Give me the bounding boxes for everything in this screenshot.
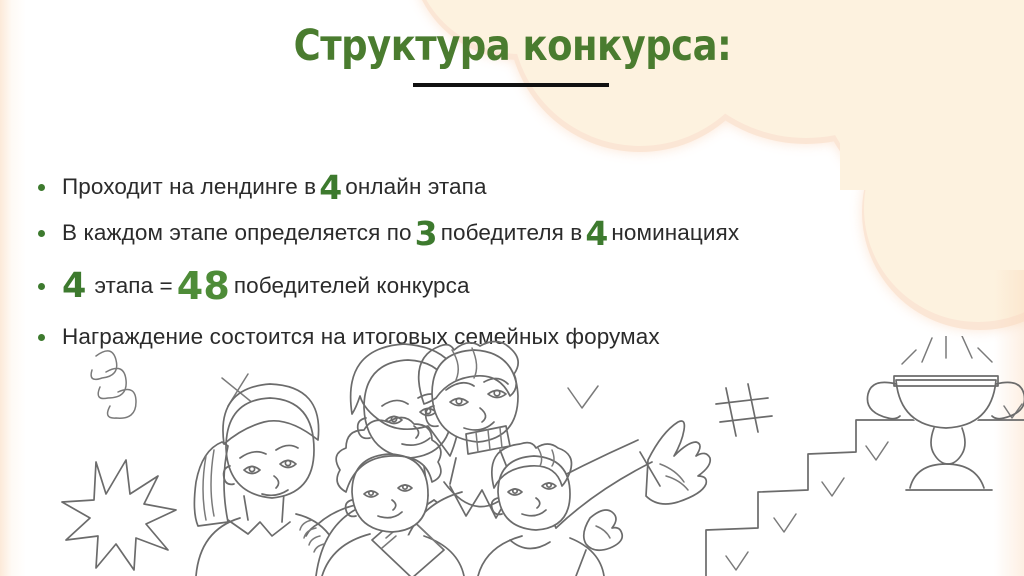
- slide-root: Структура конкурса: Проходит на лендинге…: [0, 0, 1024, 576]
- bullet-2-text-a: В каждом этапе определяется по: [62, 219, 412, 247]
- spiral-doodle: [91, 351, 136, 418]
- bullet-2-text-b: победителя в: [441, 219, 583, 247]
- bullet-dot-icon: [38, 283, 45, 290]
- list-item: В каждом этапе определяется по 3победите…: [30, 208, 990, 258]
- page-title-wrap: Структура конкурса:: [0, 24, 1024, 69]
- title-underline: [413, 83, 609, 87]
- star-burst-doodle: [62, 460, 176, 570]
- bullet-dot-icon: [38, 230, 45, 237]
- bullet-1-number: 4: [316, 171, 345, 204]
- chevron-doodle: [568, 386, 1022, 418]
- list-item: Проходит на лендинге в 4онлайн этапа: [30, 166, 990, 208]
- bullet-list: Проходит на лендинге в 4онлайн этапа В к…: [30, 166, 990, 360]
- bullet-2-number-1: 3: [412, 217, 441, 250]
- bullet-2-text-c: номинациях: [611, 219, 739, 247]
- bullet-3-text-b: победителей конкурса: [234, 272, 470, 300]
- right-edge-glow: [994, 270, 1024, 576]
- family-line-art: [0, 336, 1024, 576]
- bullet-dot-icon: [38, 184, 45, 191]
- plus-doodle: [222, 374, 254, 406]
- figure-child-girl-tablet: [322, 417, 464, 576]
- bullet-4-text: Награждение состоится на итоговых семейн…: [62, 323, 660, 351]
- figure-girl-ponytail: [194, 384, 344, 576]
- figure-man-raised-arm: [398, 341, 710, 576]
- checkmark-doodle: [726, 442, 888, 570]
- bullet-3-number-1: 4: [62, 269, 94, 304]
- page-title: Структура конкурса:: [293, 24, 731, 69]
- stairs-illustration: [706, 420, 1024, 576]
- bullet-1-text-b: онлайн этапа: [345, 173, 486, 201]
- bullet-3-text-a: этапа =: [94, 272, 172, 300]
- list-item: Награждение состоится на итоговых семейн…: [30, 314, 990, 360]
- bullet-2-number-2: 4: [582, 217, 611, 250]
- figure-child-boy: [478, 443, 622, 576]
- hash-doodle: [716, 384, 772, 436]
- bullet-dot-icon: [38, 334, 45, 341]
- left-edge-glow: [0, 0, 26, 576]
- figure-woman-bob: [300, 344, 470, 576]
- bullet-1-text-a: Проходит на лендинге в: [62, 173, 316, 201]
- list-item: 4этапа = 48победителей конкурса: [30, 258, 990, 314]
- bullet-3-number-2: 48: [173, 267, 234, 305]
